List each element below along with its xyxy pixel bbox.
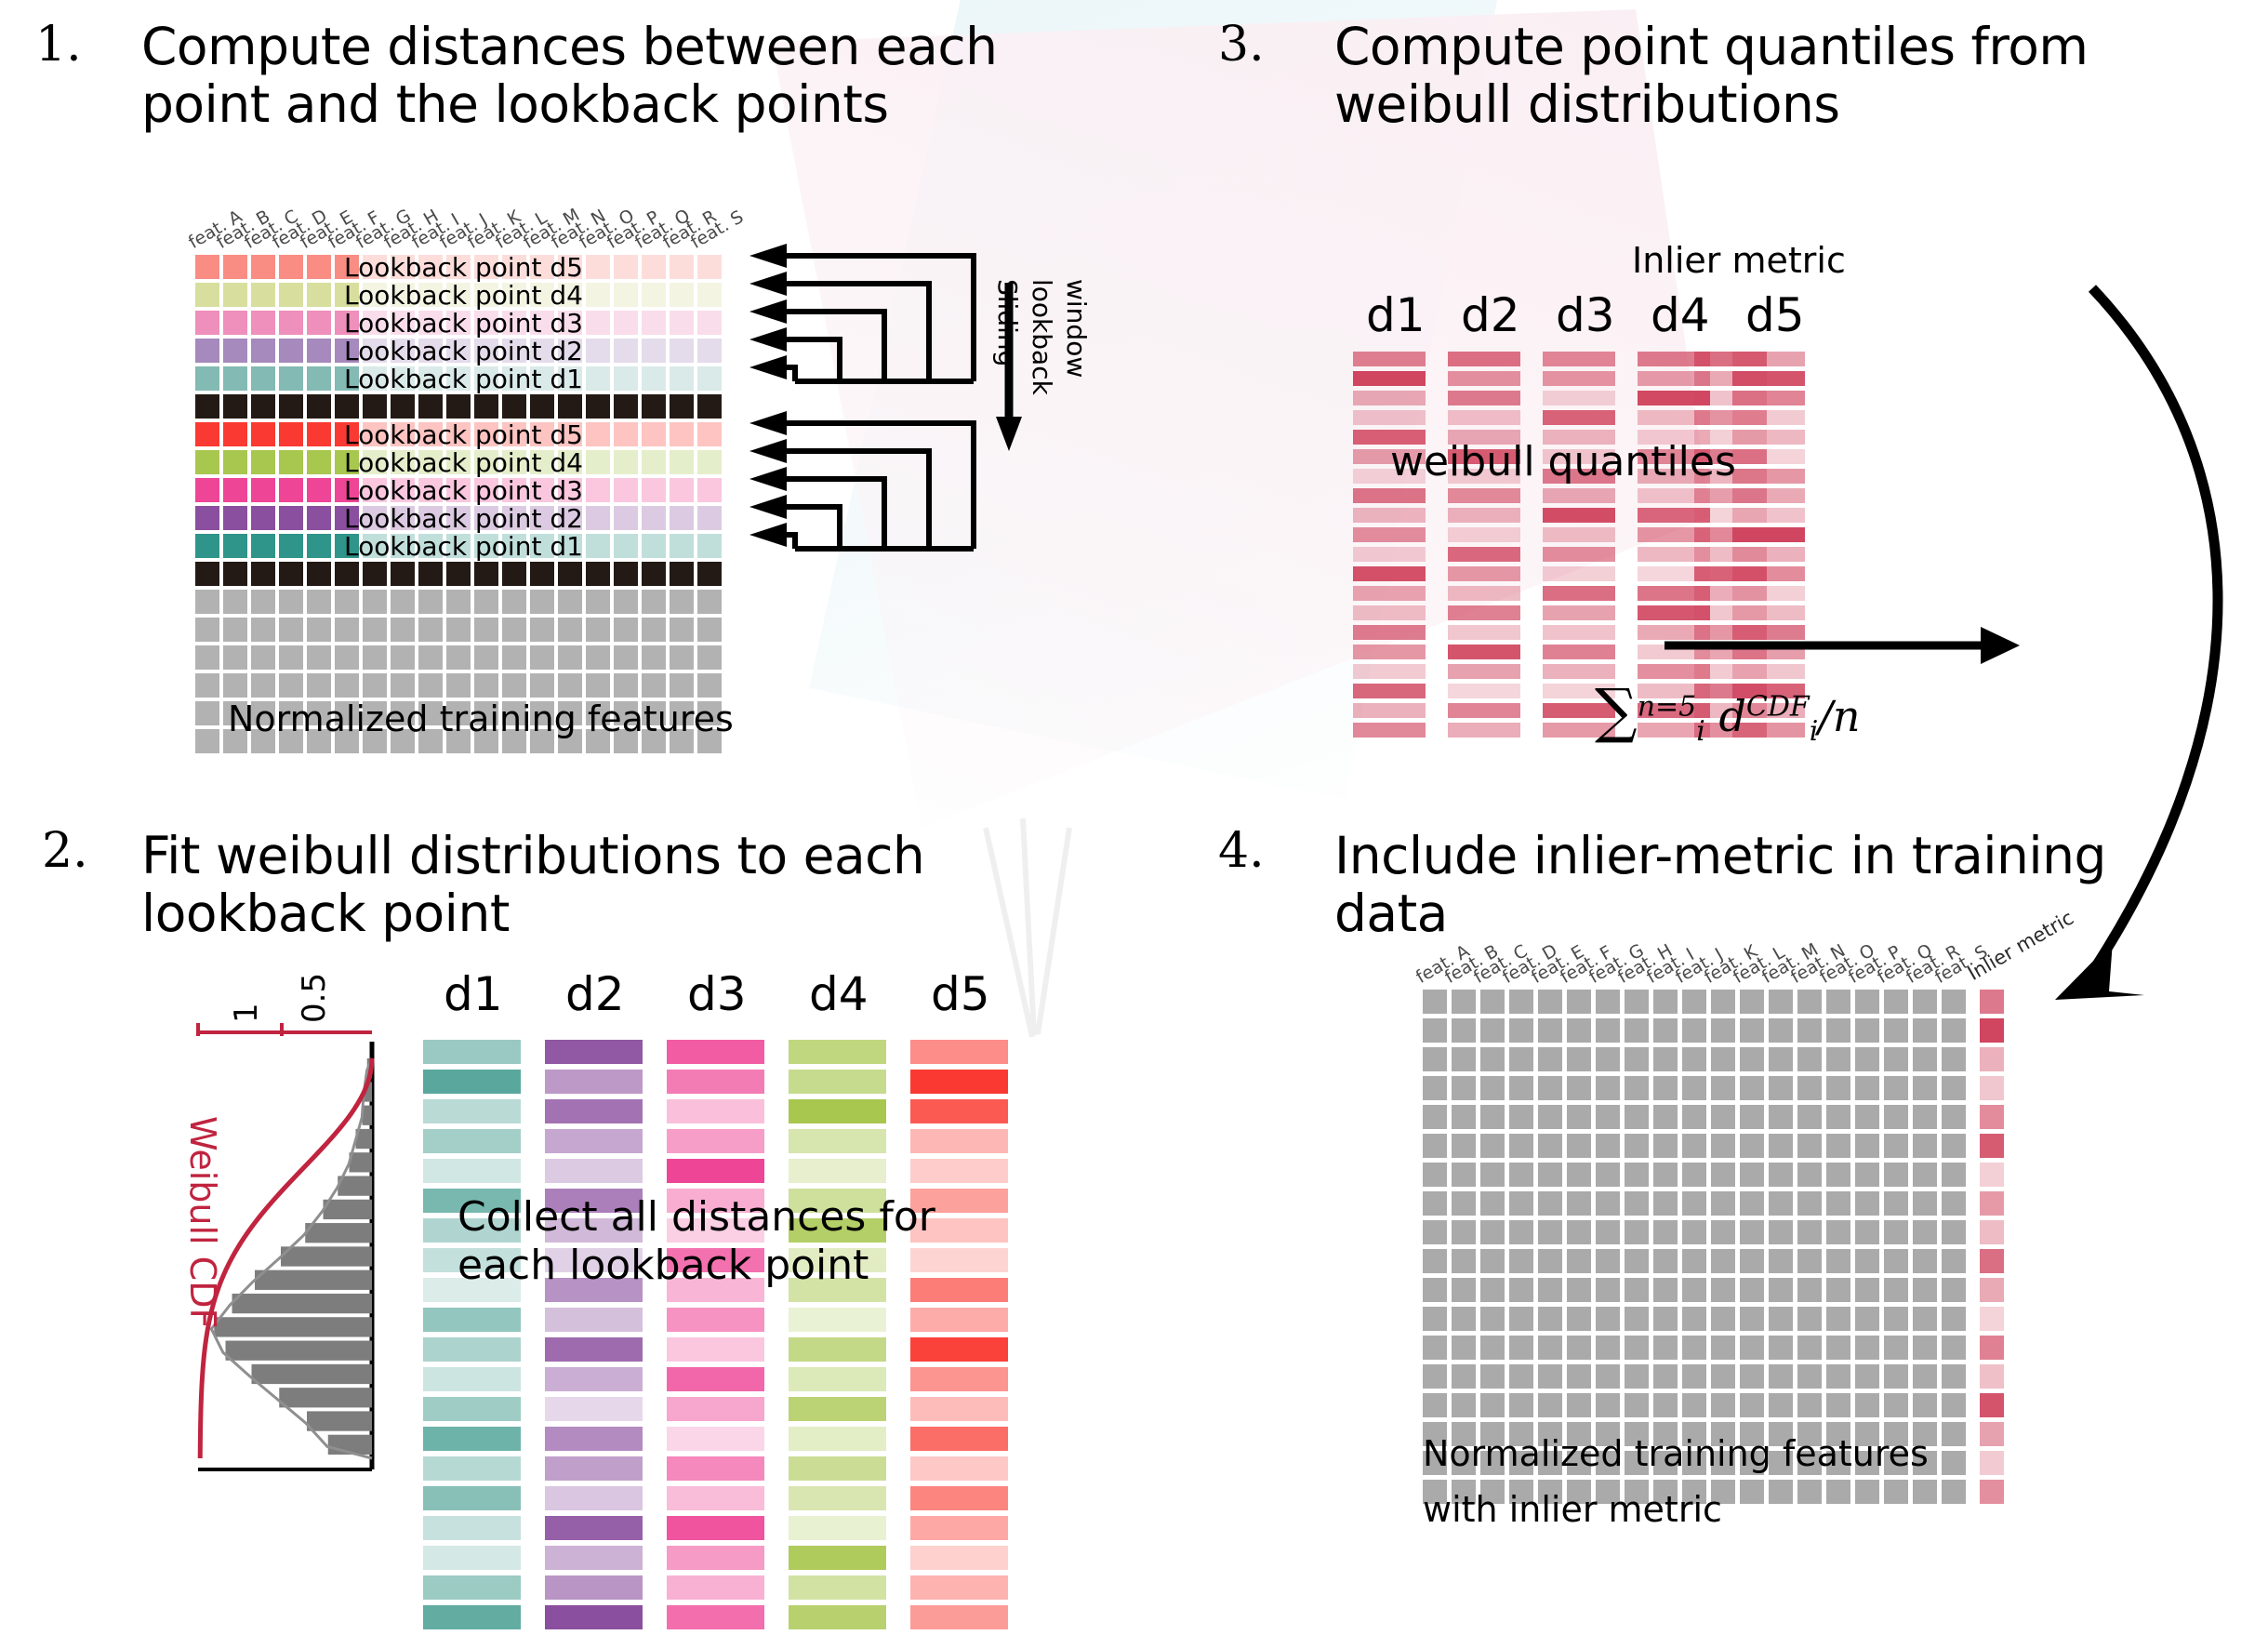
distance-cell xyxy=(667,1397,764,1421)
grid-cell xyxy=(1567,1364,1591,1389)
grid-cell xyxy=(642,562,666,586)
distance-cell xyxy=(545,1456,643,1481)
distance-cell xyxy=(423,1397,521,1421)
grid-cell xyxy=(614,562,638,586)
distance-cell xyxy=(910,1278,1008,1302)
distance-cell xyxy=(910,1099,1008,1123)
column-header: d5 xyxy=(1745,288,1805,342)
grid-cell xyxy=(1538,1018,1562,1043)
grid-cell xyxy=(418,645,443,670)
grid-cell xyxy=(670,394,694,419)
grid-cell xyxy=(474,645,498,670)
lookback-arrow-head xyxy=(749,244,787,268)
table-row: Lookback point d3 xyxy=(195,478,725,506)
grid-cell xyxy=(1769,1249,1793,1273)
grid-cell xyxy=(1711,1163,1735,1187)
grid-cell xyxy=(1423,1047,1447,1071)
quantile-cell xyxy=(1353,410,1426,425)
quantile-cell xyxy=(1543,410,1615,425)
grid-cell xyxy=(1740,990,1764,1014)
grid-cell xyxy=(223,534,247,558)
grid-cell xyxy=(1913,1249,1937,1273)
distance-cell xyxy=(789,1129,886,1153)
grid-cell xyxy=(1913,1076,1937,1100)
grid-cell xyxy=(251,534,275,558)
grid-cell xyxy=(1884,1018,1908,1043)
grid-cell xyxy=(642,673,666,698)
grid-cell xyxy=(279,422,303,446)
grid-cell xyxy=(697,590,722,614)
distance-cell xyxy=(910,1575,1008,1600)
grid-cell xyxy=(1653,1134,1678,1158)
grid-cell xyxy=(586,450,610,474)
grid-cell xyxy=(307,339,331,363)
grid-cell xyxy=(1625,1249,1649,1273)
step-3-number: 3. xyxy=(1218,17,1265,73)
grid-cell xyxy=(558,394,582,419)
grid-cell xyxy=(1711,1220,1735,1244)
distance-cell xyxy=(423,1516,521,1540)
grid-cell xyxy=(1682,1336,1706,1360)
table-row: Lookback point d4 xyxy=(195,450,725,478)
grid-cell xyxy=(1711,1278,1735,1302)
grid-cell xyxy=(1480,1191,1505,1216)
grid-cell xyxy=(307,673,331,698)
grid-cell xyxy=(614,506,638,530)
grid-cell xyxy=(1509,1191,1533,1216)
grid-cell xyxy=(446,394,471,419)
quantile-cell xyxy=(1543,391,1615,405)
column-header: d1 xyxy=(444,967,503,1021)
grid-cell xyxy=(1913,1278,1937,1302)
distance-cell xyxy=(910,1427,1008,1451)
grid-cell xyxy=(446,618,471,642)
grid-cell xyxy=(1625,1364,1649,1389)
distance-cell xyxy=(789,1516,886,1540)
grid-cell xyxy=(363,394,387,419)
inlier-metric-cell xyxy=(1980,1249,2004,1273)
grid-cell xyxy=(1653,1393,1678,1417)
sliding-window-label-line2: lookback xyxy=(1027,279,1057,395)
grid-cell xyxy=(1625,1307,1649,1331)
grid-cell xyxy=(363,562,387,586)
grid-cell xyxy=(1538,1364,1562,1389)
grid-cell xyxy=(670,311,694,335)
grid-cell xyxy=(1509,1364,1533,1389)
grid-cell xyxy=(1653,1047,1678,1071)
quantile-cell xyxy=(1448,371,1520,386)
grid-cell xyxy=(1452,990,1476,1014)
grid-cell xyxy=(642,366,666,391)
grid-cell xyxy=(307,366,331,391)
grid-cell xyxy=(1942,1451,1966,1475)
grid-cell xyxy=(614,590,638,614)
inlier-metric-cell xyxy=(1694,566,1767,581)
distance-cell xyxy=(910,1159,1008,1183)
grid-cell xyxy=(1711,1393,1735,1417)
grid-cell xyxy=(1625,1163,1649,1187)
grid-cell xyxy=(1711,990,1735,1014)
lookback-arrow-head xyxy=(749,272,787,296)
grid-cell xyxy=(1567,1393,1591,1417)
grid-cell xyxy=(251,422,275,446)
distance-cell xyxy=(667,1159,764,1183)
distance-cell xyxy=(667,1129,764,1153)
grid-cell xyxy=(195,701,219,725)
grid-cell xyxy=(642,283,666,307)
grid-cell xyxy=(1942,1220,1966,1244)
inlier-metric-cell xyxy=(1980,1076,2004,1100)
grid-cell xyxy=(1653,1076,1678,1100)
grid-cell xyxy=(1452,1018,1476,1043)
summation-symbol: ∑ xyxy=(1595,677,1638,746)
grid-cell xyxy=(1682,1018,1706,1043)
grid-cell xyxy=(279,255,303,279)
grid-cell xyxy=(1884,990,1908,1014)
distance-cell xyxy=(910,1397,1008,1421)
grid-cell xyxy=(279,450,303,474)
grid-cell xyxy=(1855,1393,1879,1417)
distance-cell xyxy=(545,1575,643,1600)
grid-cell xyxy=(697,311,722,335)
table-row xyxy=(1423,1336,2004,1364)
grid-cell xyxy=(697,255,722,279)
grid-cell xyxy=(1797,1307,1822,1331)
table-row: Lookback point d2 xyxy=(195,506,725,534)
grid-cell xyxy=(195,422,219,446)
lookback-arrow-path xyxy=(781,507,840,549)
grid-cell xyxy=(279,394,303,419)
grid-cell xyxy=(670,673,694,698)
grid-cell xyxy=(1913,1105,1937,1129)
grid-cell xyxy=(1625,1105,1649,1129)
grid-cell xyxy=(1567,1278,1591,1302)
grid-cell xyxy=(223,255,247,279)
grid-cell xyxy=(1740,1191,1764,1216)
grid-cell xyxy=(1538,1076,1562,1100)
distance-cell xyxy=(667,1040,764,1064)
quantile-cell xyxy=(1353,527,1426,542)
grid-cell xyxy=(1596,1336,1620,1360)
grid-cell xyxy=(1423,1249,1447,1273)
grid-cell xyxy=(530,673,554,698)
table-row xyxy=(1423,1191,2004,1220)
distance-cell xyxy=(789,1546,886,1570)
panel-3-sum-arrow xyxy=(1665,632,2027,670)
grid-cell xyxy=(1653,1307,1678,1331)
formula-sup-n: n=5 xyxy=(1638,691,1697,724)
distance-cell xyxy=(423,1367,521,1391)
grid-cell xyxy=(363,590,387,614)
inlier-metric-cell xyxy=(1980,1364,2004,1389)
grid-cell xyxy=(251,590,275,614)
grid-cell xyxy=(307,618,331,642)
grid-cell xyxy=(1423,1134,1447,1158)
grid-cell xyxy=(1452,1220,1476,1244)
grid-cell xyxy=(446,645,471,670)
distance-cell xyxy=(910,1605,1008,1629)
grid-cell xyxy=(1942,1191,1966,1216)
grid-cell xyxy=(558,645,582,670)
grid-cell xyxy=(1913,1018,1937,1043)
grid-cell xyxy=(279,283,303,307)
grid-cell xyxy=(642,645,666,670)
grid-cell xyxy=(1596,1220,1620,1244)
histogram-bar xyxy=(279,1388,372,1407)
grid-cell xyxy=(1682,1278,1706,1302)
grid-cell xyxy=(1826,1047,1850,1071)
grid-cell xyxy=(1884,1393,1908,1417)
grid-cell xyxy=(1509,990,1533,1014)
quantile-cell xyxy=(1448,645,1520,659)
table-row xyxy=(1423,1249,2004,1278)
formula-sub-body-i: i xyxy=(1810,715,1819,748)
grid-cell xyxy=(1423,1364,1447,1389)
grid-cell xyxy=(1884,1163,1908,1187)
grid-cell xyxy=(1797,1336,1822,1360)
grid-cell xyxy=(502,562,526,586)
grid-cell xyxy=(1855,1364,1879,1389)
grid-cell xyxy=(1826,1220,1850,1244)
table-row: Lookback point d5 xyxy=(195,255,725,283)
fan-lines-step2 xyxy=(967,800,1153,1042)
distance-cell xyxy=(789,1070,886,1094)
quantile-cell xyxy=(1353,703,1426,718)
grid-cell xyxy=(1567,1191,1591,1216)
grid-cell xyxy=(391,673,415,698)
weibull-cdf-axis-label: Weibull CDF xyxy=(182,1116,223,1328)
grid-cell xyxy=(502,618,526,642)
lookback-row-label: Lookback point d5 xyxy=(344,419,583,450)
grid-cell xyxy=(1826,1105,1850,1129)
grid-cell xyxy=(1653,1191,1678,1216)
grid-cell xyxy=(1596,1393,1620,1417)
grid-cell xyxy=(195,534,219,558)
grid-cell xyxy=(1942,1422,1966,1446)
grid-cell xyxy=(1769,1163,1793,1187)
distance-cell xyxy=(667,1546,764,1570)
distance-cell xyxy=(910,1337,1008,1362)
grid-cell xyxy=(418,673,443,698)
inlier-metric-cell xyxy=(1694,586,1767,601)
grid-cell xyxy=(223,618,247,642)
grid-cell xyxy=(1826,1076,1850,1100)
grid-cell xyxy=(391,590,415,614)
distance-cell xyxy=(789,1575,886,1600)
grid-cell xyxy=(307,645,331,670)
grid-cell xyxy=(1452,1364,1476,1389)
grid-cell xyxy=(1682,1047,1706,1071)
histogram-bar xyxy=(281,1246,372,1266)
grid-cell xyxy=(1423,1393,1447,1417)
grid-cell xyxy=(1797,990,1822,1014)
grid-cell xyxy=(1913,1336,1937,1360)
quantile-cell xyxy=(1448,586,1520,601)
grid-cell xyxy=(1797,1364,1822,1389)
grid-cell xyxy=(1509,1336,1533,1360)
step-4-title: Include inlier-metric in training data xyxy=(1334,828,2264,942)
distance-cell xyxy=(545,1546,643,1570)
distance-cell xyxy=(423,1099,521,1123)
grid-cell xyxy=(1740,1278,1764,1302)
grid-cell xyxy=(614,645,638,670)
grid-cell xyxy=(1855,1163,1879,1187)
quantile-cell xyxy=(1543,371,1615,386)
table-row xyxy=(195,618,725,645)
panel-2-overlay-line1: Collect all distances for xyxy=(458,1192,935,1243)
grid-cell xyxy=(195,283,219,307)
inlier-metric-cell xyxy=(1980,1451,2004,1475)
grid-cell xyxy=(279,562,303,586)
grid-cell xyxy=(223,673,247,698)
grid-cell xyxy=(530,590,554,614)
grid-cell xyxy=(1538,1336,1562,1360)
grid-cell xyxy=(1538,1249,1562,1273)
grid-cell xyxy=(1480,1105,1505,1129)
distance-cell xyxy=(789,1367,886,1391)
grid-cell xyxy=(1452,1307,1476,1331)
column-header: d2 xyxy=(565,967,625,1021)
distance-cell xyxy=(545,1486,643,1510)
quantile-cell xyxy=(1448,566,1520,581)
grid-cell xyxy=(1884,1220,1908,1244)
inlier-metric-cell xyxy=(1980,1134,2004,1158)
grid-cell xyxy=(614,255,638,279)
grid-cell xyxy=(1682,1105,1706,1129)
grid-cell xyxy=(1711,1307,1735,1331)
grid-cell xyxy=(1480,1249,1505,1273)
grid-cell xyxy=(1480,990,1505,1014)
lookback-row-label: Lookback point d5 xyxy=(344,252,583,283)
grid-cell xyxy=(614,673,638,698)
grid-cell xyxy=(1567,1076,1591,1100)
quantile-cell xyxy=(1353,586,1426,601)
distance-cell xyxy=(667,1367,764,1391)
quantile-cell xyxy=(1353,371,1426,386)
distance-cell xyxy=(423,1070,521,1094)
grid-cell xyxy=(251,673,275,698)
distance-cell xyxy=(789,1456,886,1481)
grid-cell xyxy=(530,394,554,419)
grid-cell xyxy=(697,339,722,363)
grid-cell xyxy=(1538,1163,1562,1187)
quantile-cell xyxy=(1448,684,1520,698)
grid-cell xyxy=(1826,1249,1850,1273)
grid-cell xyxy=(642,618,666,642)
grid-cell xyxy=(1711,1191,1735,1216)
grid-cell xyxy=(1884,1105,1908,1129)
grid-cell xyxy=(1596,1018,1620,1043)
table-row: Lookback point d1 xyxy=(195,366,725,394)
grid-cell xyxy=(1826,1018,1850,1043)
grid-cell xyxy=(1884,1278,1908,1302)
grid-cell xyxy=(223,366,247,391)
distance-cell xyxy=(423,1308,521,1332)
distance-cell xyxy=(423,1427,521,1451)
grid-cell xyxy=(1826,1364,1850,1389)
grid-cell xyxy=(614,339,638,363)
grid-cell xyxy=(1740,1076,1764,1100)
grid-cell xyxy=(474,618,498,642)
grid-cell xyxy=(223,311,247,335)
quantile-cell xyxy=(1448,391,1520,405)
grid-cell xyxy=(335,394,359,419)
grid-cell xyxy=(335,618,359,642)
distance-cell xyxy=(545,1367,643,1391)
grid-cell xyxy=(1797,1220,1822,1244)
lookback-arrow-head xyxy=(749,327,787,352)
grid-cell xyxy=(1480,1364,1505,1389)
grid-cell xyxy=(586,339,610,363)
quantile-cell xyxy=(1543,625,1615,640)
lookback-row-label: Lookback point d1 xyxy=(344,531,583,562)
grid-cell xyxy=(1682,1249,1706,1273)
grid-cell xyxy=(1942,1076,1966,1100)
quantile-cell xyxy=(1353,488,1426,503)
grid-cell xyxy=(1769,1336,1793,1360)
grid-cell xyxy=(195,478,219,502)
grid-cell xyxy=(307,450,331,474)
grid-cell xyxy=(307,422,331,446)
grid-cell xyxy=(1769,1105,1793,1129)
grid-cell xyxy=(251,283,275,307)
grid-cell xyxy=(195,729,219,753)
grid-cell xyxy=(363,645,387,670)
grid-cell xyxy=(670,255,694,279)
grid-cell xyxy=(642,534,666,558)
grid-cell xyxy=(223,590,247,614)
grid-cell xyxy=(1509,1220,1533,1244)
grid-cell xyxy=(1480,1163,1505,1187)
step-1-title: Compute distances between each point and… xyxy=(141,19,1090,133)
grid-cell xyxy=(1653,1163,1678,1187)
grid-cell xyxy=(1509,1047,1533,1071)
grid-cell xyxy=(1682,1364,1706,1389)
grid-cell xyxy=(1423,1018,1447,1043)
sliding-window-label-line1: Sliding xyxy=(992,279,1023,366)
table-row xyxy=(195,645,725,673)
grid-cell xyxy=(1423,1220,1447,1244)
grid-cell xyxy=(1740,1307,1764,1331)
distance-cell xyxy=(667,1308,764,1332)
grid-cell xyxy=(502,394,526,419)
distance-cell xyxy=(910,1546,1008,1570)
grid-cell xyxy=(1653,1018,1678,1043)
grid-cell xyxy=(195,590,219,614)
grid-cell xyxy=(1913,1163,1937,1187)
table-row xyxy=(1423,1018,2004,1047)
lookback-arrow-path xyxy=(781,339,840,381)
grid-cell xyxy=(1797,1076,1822,1100)
quantile-cell xyxy=(1353,664,1426,679)
grid-cell xyxy=(558,562,582,586)
grid-cell xyxy=(697,394,722,419)
grid-cell xyxy=(697,283,722,307)
lookback-arrow-path xyxy=(781,284,929,381)
grid-cell xyxy=(670,366,694,391)
distance-column xyxy=(789,1040,886,1635)
grid-cell xyxy=(418,562,443,586)
inlier-metric-cell xyxy=(1980,1307,2004,1331)
grid-cell xyxy=(1480,1047,1505,1071)
grid-cell xyxy=(558,590,582,614)
grid-cell xyxy=(1855,1220,1879,1244)
grid-cell xyxy=(223,645,247,670)
grid-cell xyxy=(1913,1307,1937,1331)
grid-cell xyxy=(697,645,722,670)
lookback-row-label: Lookback point d2 xyxy=(344,503,583,534)
grid-cell xyxy=(1942,1336,1966,1360)
